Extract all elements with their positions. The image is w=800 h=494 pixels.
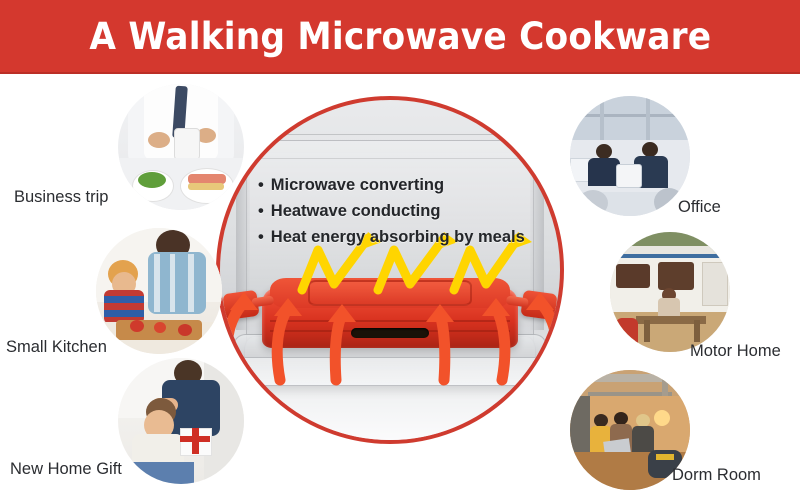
use-case-label-new-home-gift: New Home Gift (10, 460, 122, 479)
bullet-marker: • (258, 198, 264, 224)
feature-bullet: • Heatwave conducting (258, 198, 550, 224)
infographic-canvas: A Walking Microwave Cookware • Microwave… (0, 0, 800, 494)
bullet-text: Heat energy absorbing by meals (271, 224, 525, 250)
bullet-text: Microwave converting (271, 172, 444, 198)
bullet-marker: • (258, 172, 264, 198)
bullet-marker: • (258, 224, 264, 250)
photo-business-trip (118, 84, 244, 210)
photo-small-kitchen (96, 228, 222, 354)
feature-bullet: • Heat energy absorbing by meals (258, 224, 550, 250)
use-case-label-office: Office (678, 198, 721, 217)
feature-bullet: • Microwave converting (258, 172, 550, 198)
use-case-label-small-kitchen: Small Kitchen (6, 338, 107, 357)
use-case-label-motor-home: Motor Home (690, 342, 781, 361)
photo-office (570, 96, 690, 216)
page-title: A Walking Microwave Cookware (89, 15, 711, 58)
feature-bullet-list: • Microwave converting • Heatwave conduc… (258, 172, 550, 250)
center-product-circle: • Microwave converting • Heatwave conduc… (216, 96, 564, 444)
use-case-label-dorm-room: Dorm Room (672, 466, 761, 485)
bullet-text: Heatwave conducting (271, 198, 441, 224)
product-illustration (218, 260, 562, 392)
photo-motor-home (610, 232, 730, 352)
use-case-label-business-trip: Business trip (14, 188, 108, 207)
heat-flow-arrows (218, 268, 564, 386)
title-banner: A Walking Microwave Cookware (0, 0, 800, 74)
